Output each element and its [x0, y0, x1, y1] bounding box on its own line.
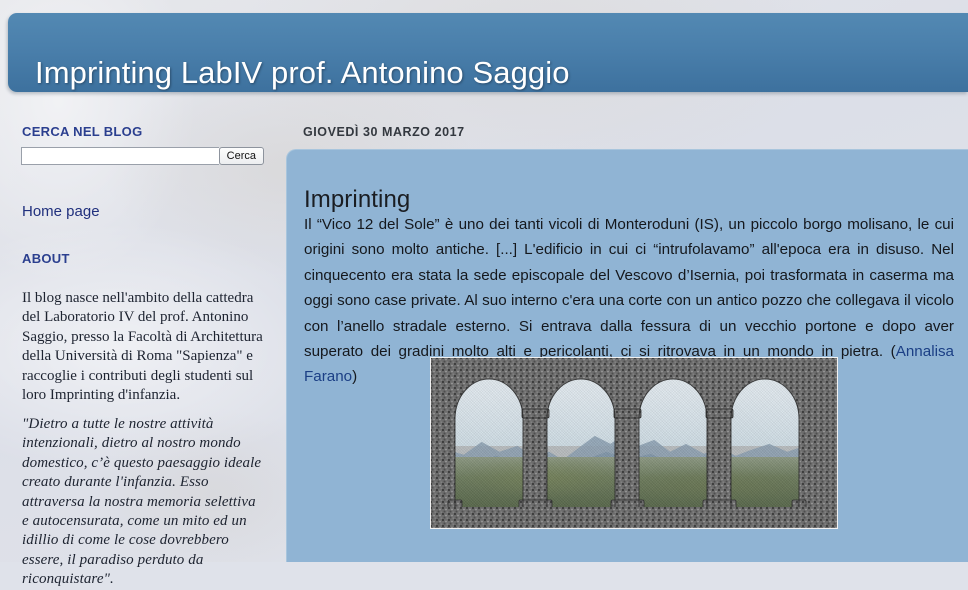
post-date-header: GIOVEDÌ 30 MARZO 2017	[303, 125, 465, 139]
site-title: Imprinting LabIV prof. Antonino Saggio	[35, 55, 570, 91]
search-section-heading: CERCA NEL BLOG	[22, 124, 142, 139]
site-header-banner: Imprinting LabIV prof. Antonino Saggio	[8, 13, 968, 92]
search-submit-button[interactable]: Cerca	[219, 147, 264, 165]
blog-search-form: Cerca	[21, 147, 264, 165]
post-content-panel: Imprinting Il “Vico 12 del Sole” è uno d…	[286, 149, 968, 562]
about-section-heading: ABOUT	[22, 251, 70, 266]
sidebar: CERCA NEL BLOG Cerca Home page ABOUT Il …	[0, 104, 286, 562]
about-quotation: "Dietro a tutte le nostre attività inten…	[22, 415, 264, 590]
post-body-text: Il “Vico 12 del Sole” è uno dei tanti vi…	[304, 216, 954, 360]
post-title: Imprinting	[304, 186, 410, 214]
sidebar-link-home-page[interactable]: Home page	[22, 203, 100, 220]
post-image	[430, 357, 838, 529]
search-input[interactable]	[21, 147, 219, 165]
image-stone-colonnade	[430, 357, 838, 529]
post-body-text-end: )	[352, 368, 357, 385]
about-description: Il blog nasce nell'ambito della cattedra…	[22, 289, 264, 405]
